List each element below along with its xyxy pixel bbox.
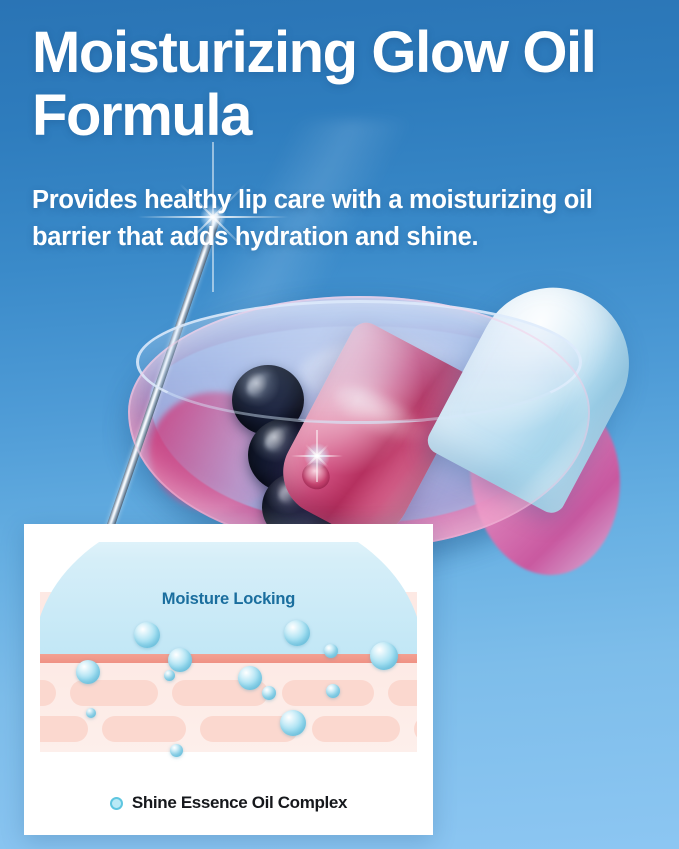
skin-brick [312,716,400,742]
skin-brick-row [40,716,417,742]
petri-dish-outer-edge [128,296,590,548]
skin-surface-line [40,654,417,663]
oil-bubble [324,644,338,658]
moisture-locking-dome: Moisture Locking [40,542,417,654]
skin-brick [102,716,186,742]
oil-bubble [168,648,192,672]
oil-bubble [262,686,276,700]
page-subtitle: Provides healthy lip care with a moistur… [32,182,660,255]
oil-bubble [238,666,262,690]
skin-brick [388,680,417,706]
dome-label: Moisture Locking [40,590,417,609]
skin-brick [414,716,417,742]
legend: Shine Essence Oil Complex [24,793,433,813]
oil-bubble [326,684,340,698]
oil-bubble [170,744,183,757]
skin-brick [40,680,56,706]
skin-brick [40,716,88,742]
skin-brick-row [40,680,417,706]
oil-bubble [86,708,96,718]
oil-bubble [280,710,306,736]
product-poster: Moisturizing Glow Oil Formula Provides h… [0,0,679,849]
oil-bubble [134,622,160,648]
page-title: Moisturizing Glow Oil Formula [32,22,652,147]
legend-label: Shine Essence Oil Complex [132,793,347,813]
moisture-locking-infographic-card: Moisture Locking Shine Essence Oil Compl… [24,524,433,835]
oil-bubble [164,670,175,681]
skin-brick [70,680,158,706]
oil-bubble [370,642,398,670]
oil-bubble [284,620,310,646]
oil-bubble [76,660,100,684]
legend-dot-icon [110,797,123,810]
skin-cross-section-diagram: Moisture Locking [40,542,417,766]
